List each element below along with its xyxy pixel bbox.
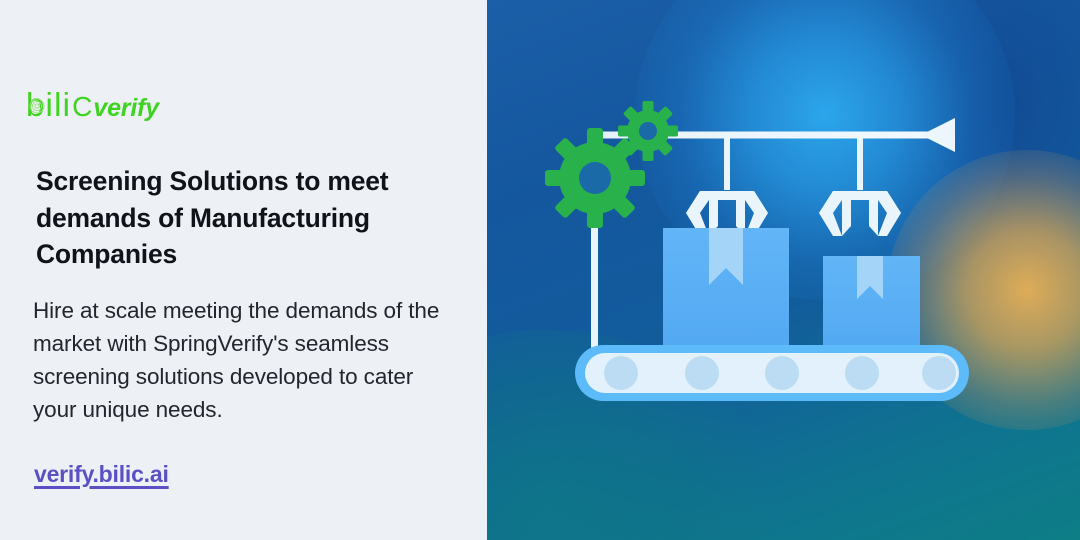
robot-gripper-right bbox=[819, 191, 901, 236]
promo-banner: bili C verify Screening Solutions to mee… bbox=[0, 0, 1080, 540]
conveyor-roller bbox=[685, 356, 719, 390]
left-content-panel: bili C verify Screening Solutions to mee… bbox=[0, 0, 487, 540]
illustration-panel bbox=[487, 0, 1080, 540]
conveyor-roller bbox=[765, 356, 799, 390]
rail-arrow-left-icon bbox=[921, 118, 955, 152]
website-link[interactable]: verify.bilic.ai bbox=[34, 461, 169, 488]
logo-c-text: C bbox=[72, 93, 92, 121]
conveyor-belt bbox=[575, 345, 969, 401]
manufacturing-conveyor-illustration bbox=[487, 0, 1080, 540]
gear-small-icon bbox=[618, 101, 678, 161]
brand-logo[interactable]: bili C verify bbox=[26, 88, 159, 128]
logo-bili-text: bili bbox=[26, 88, 71, 121]
page-title: Screening Solutions to meet demands of M… bbox=[36, 163, 456, 273]
conveyor-roller bbox=[604, 356, 638, 390]
body-paragraph: Hire at scale meeting the demands of the… bbox=[33, 294, 458, 426]
gripper-stem-right bbox=[857, 138, 863, 190]
logo-verify-text: verify bbox=[93, 96, 159, 121]
package-box-small bbox=[823, 256, 920, 348]
gripper-stem-left bbox=[724, 138, 730, 190]
conveyor-roller bbox=[922, 356, 956, 390]
conveyor-roller bbox=[845, 356, 879, 390]
package-box-large bbox=[663, 228, 789, 348]
